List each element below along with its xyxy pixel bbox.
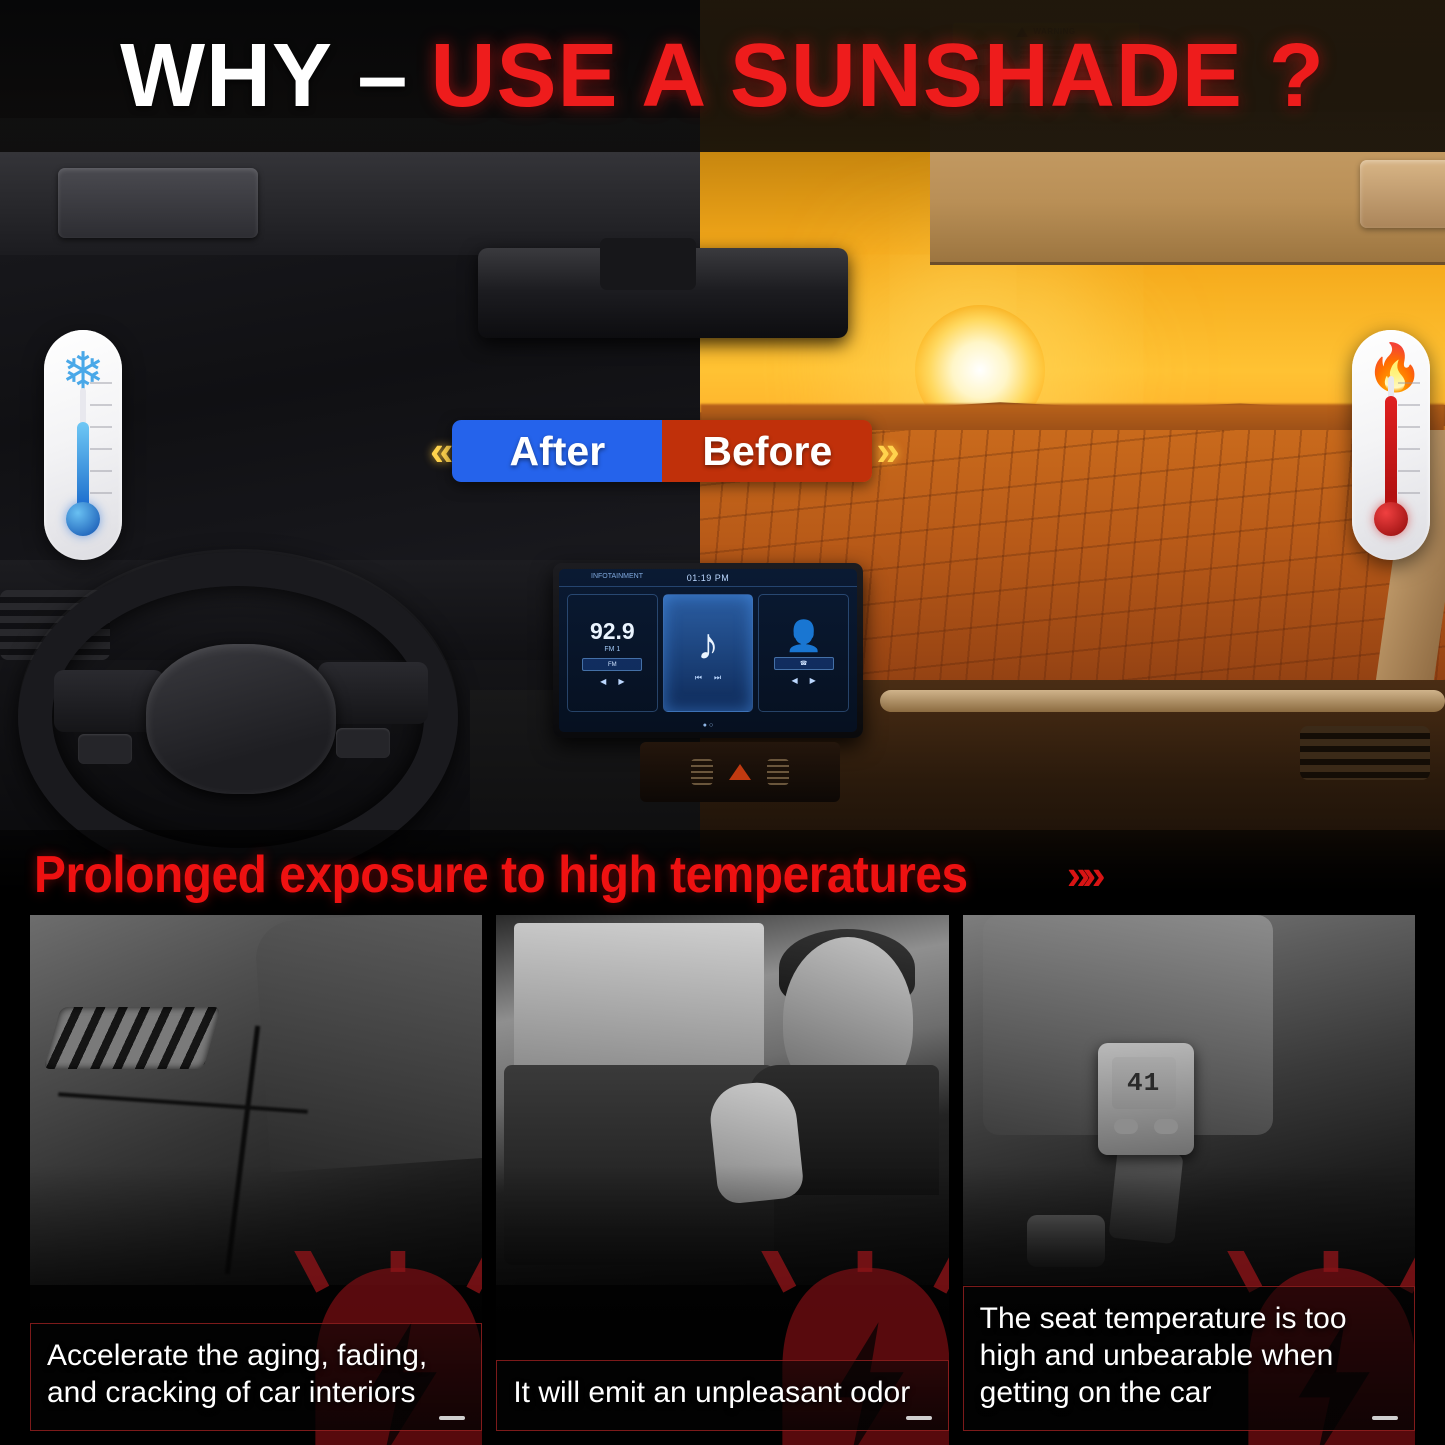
infotainment-head-unit[interactable]: INFOTAINMENT 01:19 PM 92.9 FM 1 FM ◀ ▶ <box>553 563 863 738</box>
radio-frequency: 92.9 <box>590 620 635 643</box>
photo1-air-vent <box>43 1007 221 1069</box>
radio-controls[interactable]: ◀ ▶ <box>600 677 624 686</box>
mid-banner-text: Prolonged exposure to high temperatures <box>34 845 968 905</box>
photo3-meter-button-right <box>1154 1119 1178 1134</box>
radio-tile[interactable]: 92.9 FM 1 FM ◀ ▶ <box>567 594 658 712</box>
phone-controls[interactable]: ◀ ▶ <box>792 676 816 685</box>
card-aging-interiors: Accelerate the aging, fading, and cracki… <box>30 915 482 1445</box>
media-tile[interactable]: ♪ ⏮ ⏭ <box>663 594 754 712</box>
phone-prev-icon[interactable]: ◀ <box>792 676 798 685</box>
photo3-thermometer-display: 41 <box>1112 1057 1176 1109</box>
phone-chip[interactable]: ☎ <box>774 657 834 670</box>
consequence-cards: Accelerate the aging, fading, and cracki… <box>0 915 1445 1445</box>
card1-caption-dash <box>439 1416 465 1420</box>
before-after-toggle[interactable]: « After Before » <box>430 418 950 484</box>
comparison-hero: WARNING INFOTAINMENT 01: <box>0 0 1445 905</box>
thermometer-mercury-hot <box>1385 396 1397 518</box>
radio-next-icon[interactable]: ▶ <box>618 677 624 686</box>
card2-caption-dash <box>906 1416 932 1420</box>
infographic-root: WARNING INFOTAINMENT 01: <box>0 0 1445 1445</box>
infotainment-status-bar: INFOTAINMENT 01:19 PM <box>559 569 857 587</box>
radio-preset-chip[interactable]: FM <box>582 658 642 671</box>
photo3-meter-button-left <box>1114 1119 1138 1134</box>
chevron-left-icon: « <box>430 427 448 475</box>
photo2-window <box>514 923 764 1073</box>
card1-caption: Accelerate the aging, fading, and cracki… <box>30 1323 482 1431</box>
person-icon: 👤 <box>785 622 822 652</box>
hazard-light-icon[interactable] <box>729 764 751 780</box>
phone-next-icon[interactable]: ▶ <box>810 676 816 685</box>
card3-caption-dash <box>1372 1416 1398 1420</box>
page-indicator-dots: ● ○ <box>559 722 857 729</box>
media-next-icon[interactable]: ⏭ <box>714 673 721 683</box>
hot-thermometer: 🔥 <box>1352 330 1430 560</box>
meter-reading: 41 <box>1127 1068 1160 1098</box>
card3-caption: The seat temperature is too high and unb… <box>963 1286 1415 1431</box>
steering-hub <box>146 644 336 794</box>
cold-thermometer: ❄ <box>44 330 122 560</box>
media-controls[interactable]: ⏮ ⏭ <box>695 673 721 683</box>
card2-caption: It will emit an unpleasant odor <box>496 1360 948 1431</box>
dash-trim-right <box>880 690 1445 712</box>
media-prev-icon[interactable]: ⏮ <box>695 673 702 683</box>
infotainment-screen[interactable]: INFOTAINMENT 01:19 PM 92.9 FM 1 FM ◀ ▶ <box>559 569 857 732</box>
radio-band: FM 1 <box>604 646 620 653</box>
thermometer-bulb-hot <box>1374 502 1408 536</box>
card1-caption-text: Accelerate the aging, fading, and cracki… <box>47 1338 465 1412</box>
visor-pocket-right <box>1360 160 1445 228</box>
music-note-icon: ♪ <box>697 623 719 667</box>
photo3-thermometer-body: 41 <box>1098 1043 1194 1155</box>
card-seat-temperature: 41 The seat temperature is too high a <box>963 915 1415 1445</box>
before-label[interactable]: Before <box>662 420 872 482</box>
seat-heater-right-icon[interactable] <box>767 759 789 785</box>
page-title: WHY – USE A SUNSHADE ? <box>0 0 1445 152</box>
title-white-part: WHY – <box>120 31 408 121</box>
mid-banner: Prolonged exposure to high temperatures … <box>0 830 1445 920</box>
photo1-seat <box>254 915 482 1173</box>
thermometer-ticks-hot <box>1398 382 1420 512</box>
after-label[interactable]: After <box>452 420 662 482</box>
visor-pocket-left <box>58 168 258 238</box>
air-vent-right <box>1300 726 1430 780</box>
infotainment-brand: INFOTAINMENT <box>591 573 643 580</box>
infotainment-clock: 01:19 PM <box>687 573 730 583</box>
seat-heater-left-icon[interactable] <box>691 759 713 785</box>
radio-prev-icon[interactable]: ◀ <box>600 677 606 686</box>
steering-button-pad-left <box>78 734 132 764</box>
chevron-right-icon: » <box>876 427 894 475</box>
mid-banner-chevrons-icon: »» <box>1067 851 1098 899</box>
steering-button-pad-right <box>336 728 390 758</box>
card2-caption-text: It will emit an unpleasant odor <box>513 1375 931 1412</box>
center-console-buttons[interactable] <box>640 742 840 802</box>
before-after-pill[interactable]: After Before <box>452 420 872 482</box>
mirror-camera-housing <box>600 238 696 290</box>
thermometer-ticks-cold <box>90 382 112 512</box>
card-unpleasant-odor: It will emit an unpleasant odor <box>496 915 948 1445</box>
infotainment-tiles: 92.9 FM 1 FM ◀ ▶ ♪ ⏮ ⏭ <box>559 587 857 712</box>
thermometer-bulb-cold <box>66 502 100 536</box>
card3-caption-text: The seat temperature is too high and unb… <box>980 1301 1398 1412</box>
phone-tile[interactable]: 👤 ☎ ◀ ▶ <box>758 594 849 712</box>
title-red-part: USE A SUNSHADE ? <box>430 31 1324 121</box>
